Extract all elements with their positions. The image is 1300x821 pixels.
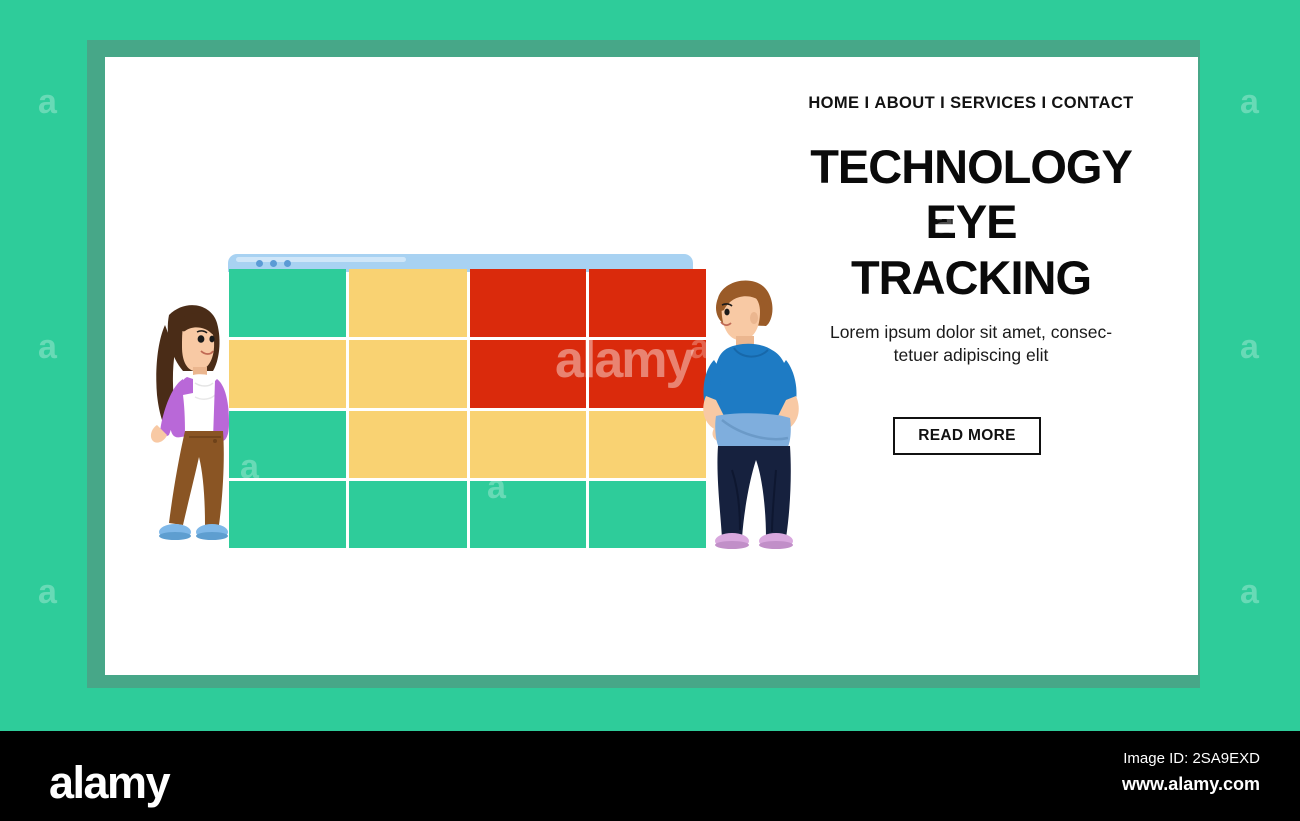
landing-page-content: HOMEIABOUTISERVICESICONTACT TECHNOLOGY E… (105, 57, 1198, 675)
headline-line-1: TECHNOLOGY (765, 139, 1177, 194)
nav-item-about[interactable]: ABOUT (874, 94, 935, 112)
window-dot-icon-1[interactable] (256, 260, 263, 267)
heatmap-cell-r1-c3 (470, 269, 586, 337)
heatmap-cell-r3-c3 (470, 411, 586, 478)
eye-tracking-heatmap (229, 269, 697, 543)
alamy-url-label: www.alamy.com (1122, 774, 1260, 795)
image-id-label: Image ID: 2SA9EXD (1123, 750, 1260, 767)
nav-separator-2: I (935, 94, 950, 112)
read-more-button[interactable]: READ MORE (893, 417, 1041, 455)
man-character-illustration (680, 260, 805, 550)
nav-separator-1: I (859, 94, 874, 112)
heatmap-cell-r1-c2 (349, 269, 467, 337)
nav-item-contact[interactable]: CONTACT (1051, 94, 1133, 112)
heatmap-cell-r2-c2 (349, 340, 467, 408)
heatmap-cell-r3-c2 (349, 411, 467, 478)
alamy-logo: alamy (49, 757, 169, 809)
window-dot-icon-3[interactable] (284, 260, 291, 267)
browser-window-mockup (223, 254, 693, 544)
heatmap-cell-r4-c2 (349, 481, 467, 548)
stock-photo-footer: alamy Image ID: 2SA9EXD www.alamy.com (0, 731, 1300, 821)
nav-item-home[interactable]: HOME (808, 94, 859, 112)
headline-line-2: EYE (765, 194, 1177, 249)
hero-headline: TECHNOLOGY EYE TRACKING (765, 139, 1177, 305)
headline-line-3: TRACKING (765, 250, 1177, 305)
window-dot-icon-2[interactable] (270, 260, 277, 267)
heatmap-cell-r2-c3 (470, 340, 586, 408)
hero-subtext: Lorem ipsum dolor sit amet, consec- tetu… (793, 321, 1149, 367)
heatmap-cell-r4-c3 (470, 481, 586, 548)
nav-item-services[interactable]: SERVICES (950, 94, 1036, 112)
subtext-line-1: Lorem ipsum dolor sit amet, consec- (793, 321, 1149, 344)
subtext-line-2: tetuer adipiscing elit (793, 344, 1149, 367)
nav-separator-3: I (1036, 94, 1051, 112)
woman-character-illustration (127, 285, 247, 550)
top-navigation: HOMEIABOUTISERVICESICONTACT (781, 94, 1161, 113)
